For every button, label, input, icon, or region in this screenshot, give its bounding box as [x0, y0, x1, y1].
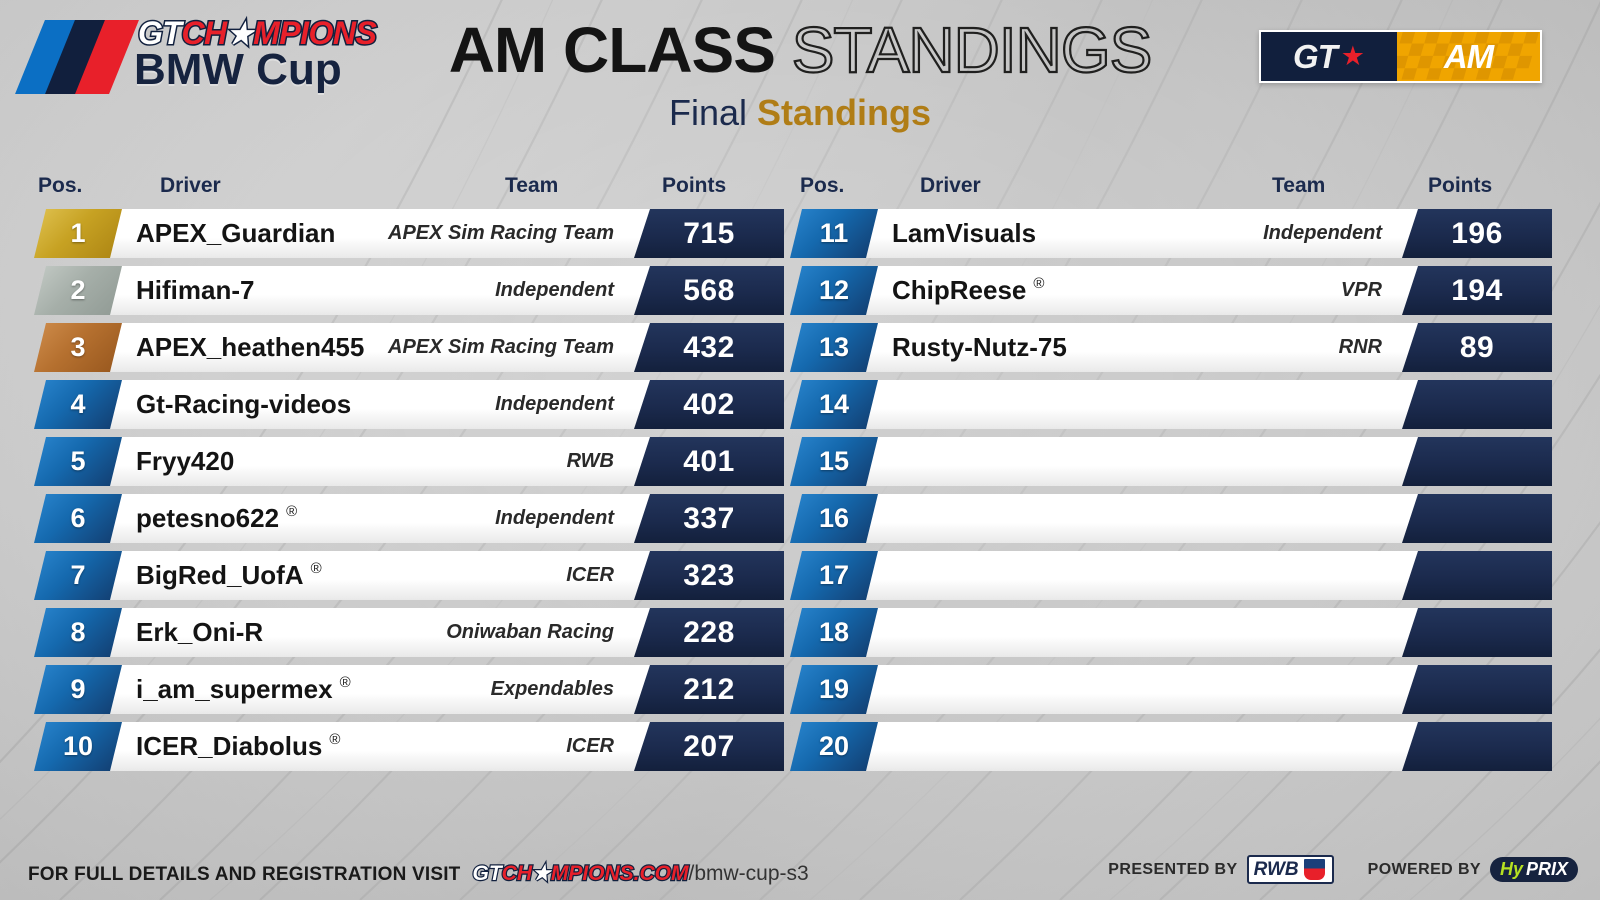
position-badge: 6 [34, 494, 122, 543]
column-header-driver-col1: Driver [160, 174, 221, 200]
points-block: 228 [634, 608, 784, 657]
class-badge-right: AM [1397, 32, 1540, 81]
position-badge: 11 [790, 209, 878, 258]
team-name: Expendables [214, 665, 614, 714]
footer-url-ch: CH [502, 862, 532, 885]
position-badge: 10 [34, 722, 122, 771]
position-badge: 1 [34, 209, 122, 258]
points-block: 212 [634, 665, 784, 714]
star-icon: ★ [1341, 43, 1365, 70]
position-badge: 19 [790, 665, 878, 714]
footer-url-mpions: MPIONS [551, 862, 634, 885]
column-header-points-col1: Points [662, 174, 726, 200]
points-value: 432 [683, 333, 735, 363]
table-row[interactable]: 7BigRed_UofA®ICER323 [34, 551, 784, 600]
position-badge: 15 [790, 437, 878, 486]
position-number: 5 [70, 448, 85, 475]
table-row[interactable]: 16 [790, 494, 1552, 543]
page-subtitle: Final Standings [0, 94, 1600, 132]
position-number: 2 [70, 277, 85, 304]
team-name [982, 380, 1382, 429]
footer: FOR FULL DETAILS AND REGISTRATION VISIT … [0, 836, 1600, 900]
position-badge: 7 [34, 551, 122, 600]
title-solid-part: AM CLASS [449, 14, 775, 86]
points-block: 337 [634, 494, 784, 543]
points-block: 196 [1402, 209, 1552, 258]
points-block: 432 [634, 323, 784, 372]
class-badge-am-text: AM [1444, 38, 1493, 76]
presented-by-label: PRESENTED BY [1108, 861, 1237, 879]
table-row[interactable]: 13Rusty-Nutz-75RNR89 [790, 323, 1552, 372]
hyprix-prix-text: PRIX [1526, 860, 1568, 879]
points-value: 194 [1451, 276, 1503, 306]
team-name: RWB [214, 437, 614, 486]
position-number: 10 [63, 733, 93, 760]
position-number: 1 [70, 220, 85, 247]
points-block: 89 [1402, 323, 1552, 372]
points-block [1402, 665, 1552, 714]
footer-url[interactable]: GTCH★MPIONS.COM/bmw-cup-s3 [472, 861, 808, 886]
powered-by-group: POWERED BY HyPRIX [1368, 857, 1578, 882]
presented-by-group: PRESENTED BY RWB [1108, 855, 1333, 884]
points-value: 212 [683, 675, 735, 705]
position-badge: 17 [790, 551, 878, 600]
position-number: 6 [70, 505, 85, 532]
team-name [982, 608, 1382, 657]
points-value: 337 [683, 504, 735, 534]
position-number: 18 [819, 619, 849, 646]
star-icon: ★ [532, 862, 551, 885]
table-row[interactable]: 14 [790, 380, 1552, 429]
footer-sponsors: PRESENTED BY RWB POWERED BY HyPRIX [1108, 855, 1578, 884]
points-block: 323 [634, 551, 784, 600]
position-badge: 8 [34, 608, 122, 657]
points-value: 715 [683, 219, 735, 249]
team-name: RNR [982, 323, 1382, 372]
team-name: Independent [214, 266, 614, 315]
column-header-driver-col2: Driver [920, 174, 981, 200]
team-name: Independent [214, 380, 614, 429]
points-block [1402, 608, 1552, 657]
points-value: 323 [683, 561, 735, 591]
points-block: 207 [634, 722, 784, 771]
shield-icon [1302, 857, 1327, 882]
position-badge: 13 [790, 323, 878, 372]
position-number: 13 [819, 334, 849, 361]
rwb-sponsor-logo[interactable]: RWB [1247, 855, 1334, 884]
points-block [1402, 551, 1552, 600]
subtitle-second-word: Standings [757, 92, 931, 133]
footer-url-dotcom: .COM [634, 862, 689, 885]
table-row[interactable]: 17 [790, 551, 1552, 600]
points-value: 196 [1451, 219, 1503, 249]
table-row[interactable]: 4Gt-Racing-videosIndependent402 [34, 380, 784, 429]
team-name: Independent [214, 494, 614, 543]
table-row[interactable]: 6petesno622®Independent337 [34, 494, 784, 543]
team-name [982, 551, 1382, 600]
table-row[interactable]: 5Fryy420RWB401 [34, 437, 784, 486]
position-badge: 16 [790, 494, 878, 543]
column-header-team-col2: Team [1272, 174, 1325, 200]
points-block: 401 [634, 437, 784, 486]
position-badge: 9 [34, 665, 122, 714]
powered-by-label: POWERED BY [1368, 861, 1481, 879]
hyprix-sponsor-logo[interactable]: HyPRIX [1490, 857, 1578, 882]
team-name: APEX Sim Racing Team [214, 209, 614, 258]
team-name: ICER [214, 722, 614, 771]
position-number: 20 [819, 733, 849, 760]
team-name: VPR [982, 266, 1382, 315]
position-badge: 18 [790, 608, 878, 657]
position-badge: 5 [34, 437, 122, 486]
team-name: Independent [982, 209, 1382, 258]
position-badge: 3 [34, 323, 122, 372]
subtitle-first-word: Final [669, 92, 747, 133]
points-block: 715 [634, 209, 784, 258]
points-value: 228 [683, 618, 735, 648]
points-block [1402, 380, 1552, 429]
header: GTCH★MPIONS BMW Cup AM CLASS STANDINGS F… [0, 0, 1600, 160]
gt-am-class-badge: GT ★ [1259, 30, 1542, 83]
column-header-points-col2: Points [1428, 174, 1492, 200]
position-number: 12 [819, 277, 849, 304]
table-row[interactable]: 10ICER_Diabolus®ICER207 [34, 722, 784, 771]
team-name [982, 437, 1382, 486]
hyprix-hy-text: Hy [1500, 860, 1523, 879]
position-badge: 12 [790, 266, 878, 315]
points-block [1402, 722, 1552, 771]
position-number: 3 [70, 334, 85, 361]
table-row[interactable]: 9i_am_supermex®Expendables212 [34, 665, 784, 714]
position-number: 14 [819, 391, 849, 418]
table-row[interactable]: 3APEX_heathen455APEX Sim Racing Team432 [34, 323, 784, 372]
table-row[interactable]: 11LamVisualsIndependent196 [790, 209, 1552, 258]
position-badge: 14 [790, 380, 878, 429]
column-header-pos-col1: Pos. [38, 174, 82, 200]
position-number: 19 [819, 676, 849, 703]
team-name: Oniwaban Racing [214, 608, 614, 657]
footer-cta: FOR FULL DETAILS AND REGISTRATION VISIT … [28, 861, 809, 886]
table-row[interactable]: 1APEX_GuardianAPEX Sim Racing Team715 [34, 209, 784, 258]
points-value: 402 [683, 390, 735, 420]
table-row[interactable]: 19 [790, 665, 1552, 714]
footer-url-path: /bmw-cup-s3 [689, 862, 809, 885]
table-row[interactable]: 20 [790, 722, 1552, 771]
team-name [982, 722, 1382, 771]
position-badge: 20 [790, 722, 878, 771]
table-row[interactable]: 12ChipReese®VPR194 [790, 266, 1552, 315]
team-name [982, 494, 1382, 543]
points-block [1402, 437, 1552, 486]
points-value: 207 [683, 732, 735, 762]
column-header-team-col1: Team [505, 174, 558, 200]
table-row[interactable]: 18 [790, 608, 1552, 657]
title-outline-part: STANDINGS [792, 14, 1152, 86]
points-block: 568 [634, 266, 784, 315]
points-block: 402 [634, 380, 784, 429]
team-name [982, 665, 1382, 714]
points-value: 568 [683, 276, 735, 306]
position-number: 9 [70, 676, 85, 703]
position-number: 17 [819, 562, 849, 589]
table-row[interactable]: 15 [790, 437, 1552, 486]
position-number: 4 [70, 391, 85, 418]
position-badge: 4 [34, 380, 122, 429]
team-name: ICER [214, 551, 614, 600]
points-value: 89 [1460, 333, 1494, 363]
position-badge: 2 [34, 266, 122, 315]
table-row[interactable]: 8Erk_Oni-ROniwaban Racing228 [34, 608, 784, 657]
column-header-pos-col2: Pos. [800, 174, 844, 200]
position-number: 8 [70, 619, 85, 646]
class-badge-gt-text: GT [1293, 38, 1337, 76]
footer-url-gt: GT [472, 862, 501, 885]
position-number: 16 [819, 505, 849, 532]
team-name: APEX Sim Racing Team [214, 323, 614, 372]
position-number: 11 [820, 220, 849, 247]
table-row[interactable]: 2Hifiman-7Independent568 [34, 266, 784, 315]
position-number: 15 [819, 448, 849, 475]
points-block: 194 [1402, 266, 1552, 315]
points-value: 401 [683, 447, 735, 477]
rwb-sponsor-text: RWB [1254, 859, 1299, 880]
position-number: 7 [70, 562, 85, 589]
footer-cta-text: FOR FULL DETAILS AND REGISTRATION VISIT [28, 864, 460, 886]
points-block [1402, 494, 1552, 543]
class-badge-left: GT ★ [1261, 32, 1397, 81]
